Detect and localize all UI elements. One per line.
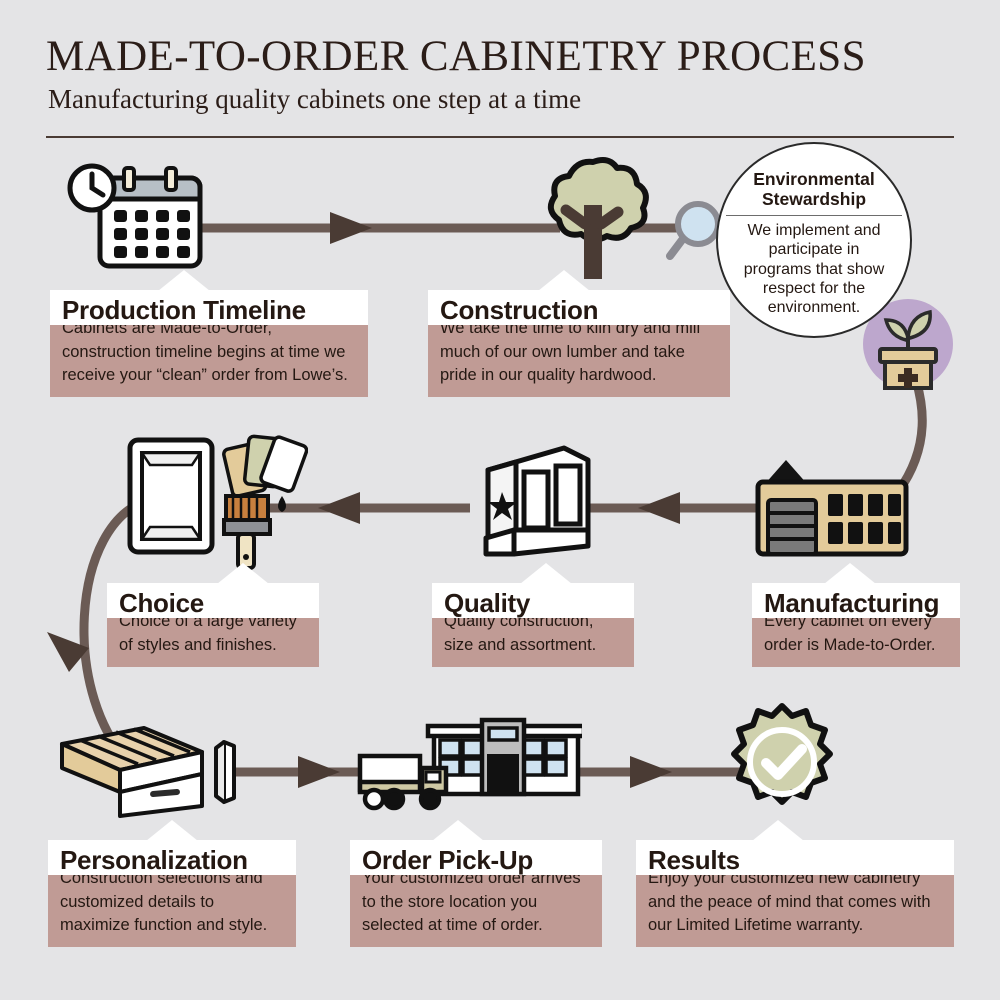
card-pointer [217,563,269,584]
card-pointer [752,820,804,841]
factory-icon [748,452,918,560]
tree-icon [528,152,658,282]
card-order-pick-up: Order Pick-Up Your customized order arri… [350,840,602,947]
card-body: We take the time to kiln dry and mill mu… [428,313,730,397]
callout-body: We implement and participate in programs… [718,216,910,317]
card-manufacturing: Manufacturing Every cabinet on every ord… [752,583,960,667]
card-title: Personalization [48,840,296,875]
cabinet-icon [472,442,596,564]
card-title: Order Pick-Up [350,840,602,875]
card-pointer [158,270,210,291]
drawer-handle-icon [52,718,248,822]
card-pointer [146,820,198,841]
card-choice: Choice Choice of a large variety of styl… [107,583,319,667]
card-body: Enjoy your customized new cabinetry and … [636,863,954,947]
door-swatches-brush-icon [122,424,308,572]
check-badge-icon [722,702,842,822]
card-title: Construction [428,290,730,325]
card-title: Choice [107,583,319,618]
card-construction: Construction We take the time to kiln dr… [428,290,730,397]
card-personalization: Personalization Construction selections … [48,840,296,947]
card-results: Results Enjoy your customized new cabine… [636,840,954,947]
card-pointer [824,563,876,584]
card-title: Quality [432,583,634,618]
card-body: Construction selections and customized d… [48,863,296,947]
card-body: Your customized order arrives to the sto… [350,863,602,947]
card-pointer [432,820,484,841]
environmental-stewardship-callout: Environmental Stewardship We implement a… [716,142,912,338]
truck-store-icon [356,716,582,820]
card-title: Manufacturing [752,583,960,618]
infographic-canvas: MADE-TO-ORDER CABINETRY PROCESS Manufact… [0,0,1000,1000]
card-pointer [520,563,572,584]
calendar-clock-icon [62,160,212,280]
card-title: Results [636,840,954,875]
card-quality: Quality Quality construction, size and a… [432,583,634,667]
card-pointer [538,270,590,291]
card-title: Production Timeline [50,290,368,325]
card-production-timeline: Production Timeline Cabinets are Made-to… [50,290,368,397]
card-body: Cabinets are Made-to-Order, construction… [50,313,368,397]
